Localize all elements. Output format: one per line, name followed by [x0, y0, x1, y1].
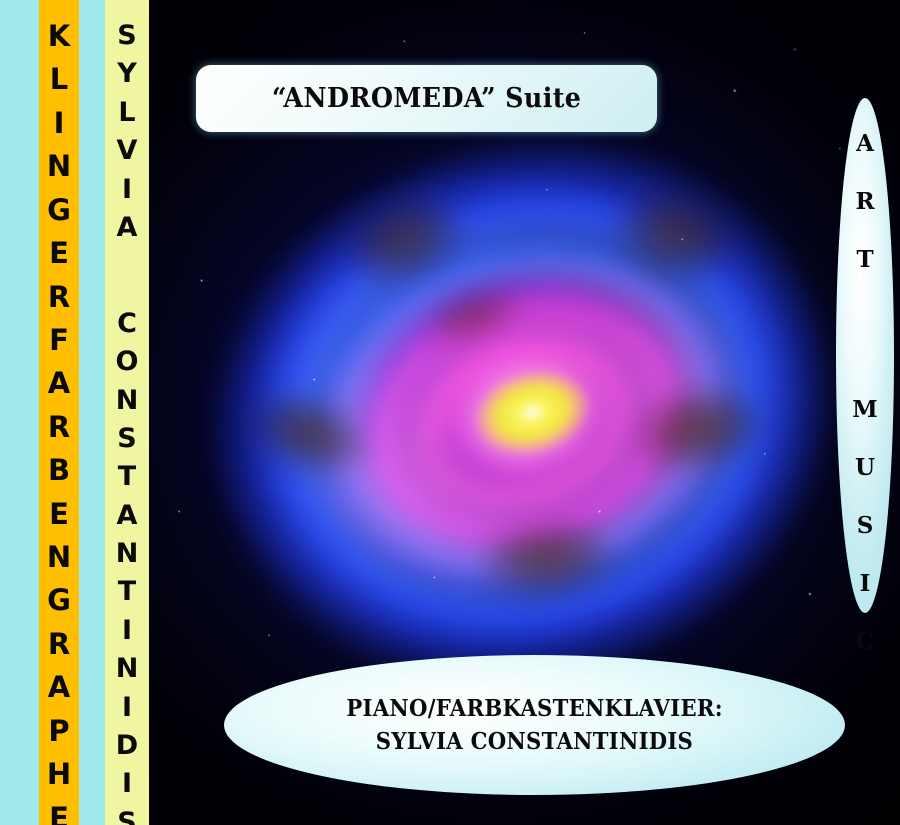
letter-cell: U: [852, 456, 877, 514]
letter-cell: I: [122, 617, 132, 655]
letter-cell: A: [852, 132, 877, 190]
letter-cell: R: [852, 190, 877, 248]
letter-cell: N: [116, 540, 139, 578]
letter-cell: R: [48, 630, 70, 673]
letter-cell: A: [117, 214, 138, 252]
art-music-letters: ART MUSIC: [852, 132, 877, 688]
letter-cell: A: [48, 369, 70, 412]
letter-cell: K: [48, 22, 70, 65]
credit-line-performer-role: PIANO/FARBKASTENKLAVIER:: [346, 692, 722, 725]
letter-cell: P: [48, 717, 69, 760]
letter-cell: E: [49, 500, 69, 543]
letter-cell: [122, 252, 131, 310]
letter-cell: L: [118, 99, 135, 137]
letter-cell: V: [117, 137, 138, 175]
letter-cell: I: [852, 572, 877, 630]
letter-cell: A: [48, 673, 70, 716]
letter-cell: N: [47, 543, 71, 586]
letter-cell: G: [47, 586, 71, 629]
letter-cell: N: [116, 387, 139, 425]
spacer-band-left: [0, 0, 39, 825]
letter-cell: [852, 306, 877, 398]
letter-cell: I: [122, 176, 132, 214]
letter-cell: E: [49, 804, 69, 825]
album-cover: KLINGERFARBENGRAPHE SYLVIA CONSTANTINIDI…: [0, 0, 900, 825]
letter-cell: N: [116, 655, 139, 693]
spacer-band-middle: [79, 0, 105, 825]
letter-cell: T: [118, 578, 136, 616]
letter-cell: S: [117, 809, 136, 825]
letter-cell: N: [47, 152, 71, 195]
letter-cell: I: [122, 770, 132, 808]
letter-cell: H: [47, 760, 71, 803]
letter-cell: S: [117, 425, 136, 463]
letter-cell: M: [852, 398, 877, 456]
title-banner: “ANDROMEDA” Suite: [196, 65, 657, 132]
letter-cell: O: [116, 348, 139, 386]
letter-cell: F: [49, 326, 69, 369]
letter-cell: S: [852, 514, 877, 572]
credits-badge: PIANO/FARBKASTENKLAVIER: SYLVIA CONSTANT…: [224, 655, 845, 795]
klingerfarbengraphe-band: KLINGERFARBENGRAPHE: [39, 0, 79, 825]
letter-cell: A: [117, 502, 138, 540]
letter-cell: Y: [117, 60, 137, 98]
letter-cell: G: [47, 196, 71, 239]
letter-cell: L: [50, 65, 68, 108]
letter-cell: D: [116, 732, 138, 770]
art-music-badge: ART MUSIC: [836, 98, 894, 613]
letter-cell: R: [48, 413, 70, 456]
sylvia-constantinidis-band: SYLVIA CONSTANTINIDIS: [105, 0, 149, 825]
letter-cell: T: [852, 248, 877, 306]
page-title: “ANDROMEDA” Suite: [272, 83, 581, 114]
letter-cell: C: [852, 630, 877, 688]
letter-cell: C: [117, 310, 137, 348]
letter-cell: I: [54, 109, 65, 152]
letter-cell: E: [49, 239, 69, 282]
letter-cell: B: [48, 456, 70, 499]
letter-cell: R: [48, 283, 70, 326]
sylvia-constantinidis-letters: SYLVIA CONSTANTINIDIS: [105, 0, 149, 825]
letter-cell: I: [122, 694, 132, 732]
credit-line-performer-name: SYLVIA CONSTANTINIDIS: [376, 725, 693, 758]
klingerfarbengraphe-letters: KLINGERFARBENGRAPHE: [39, 0, 79, 825]
letter-cell: S: [117, 22, 136, 60]
letter-cell: T: [118, 463, 136, 501]
